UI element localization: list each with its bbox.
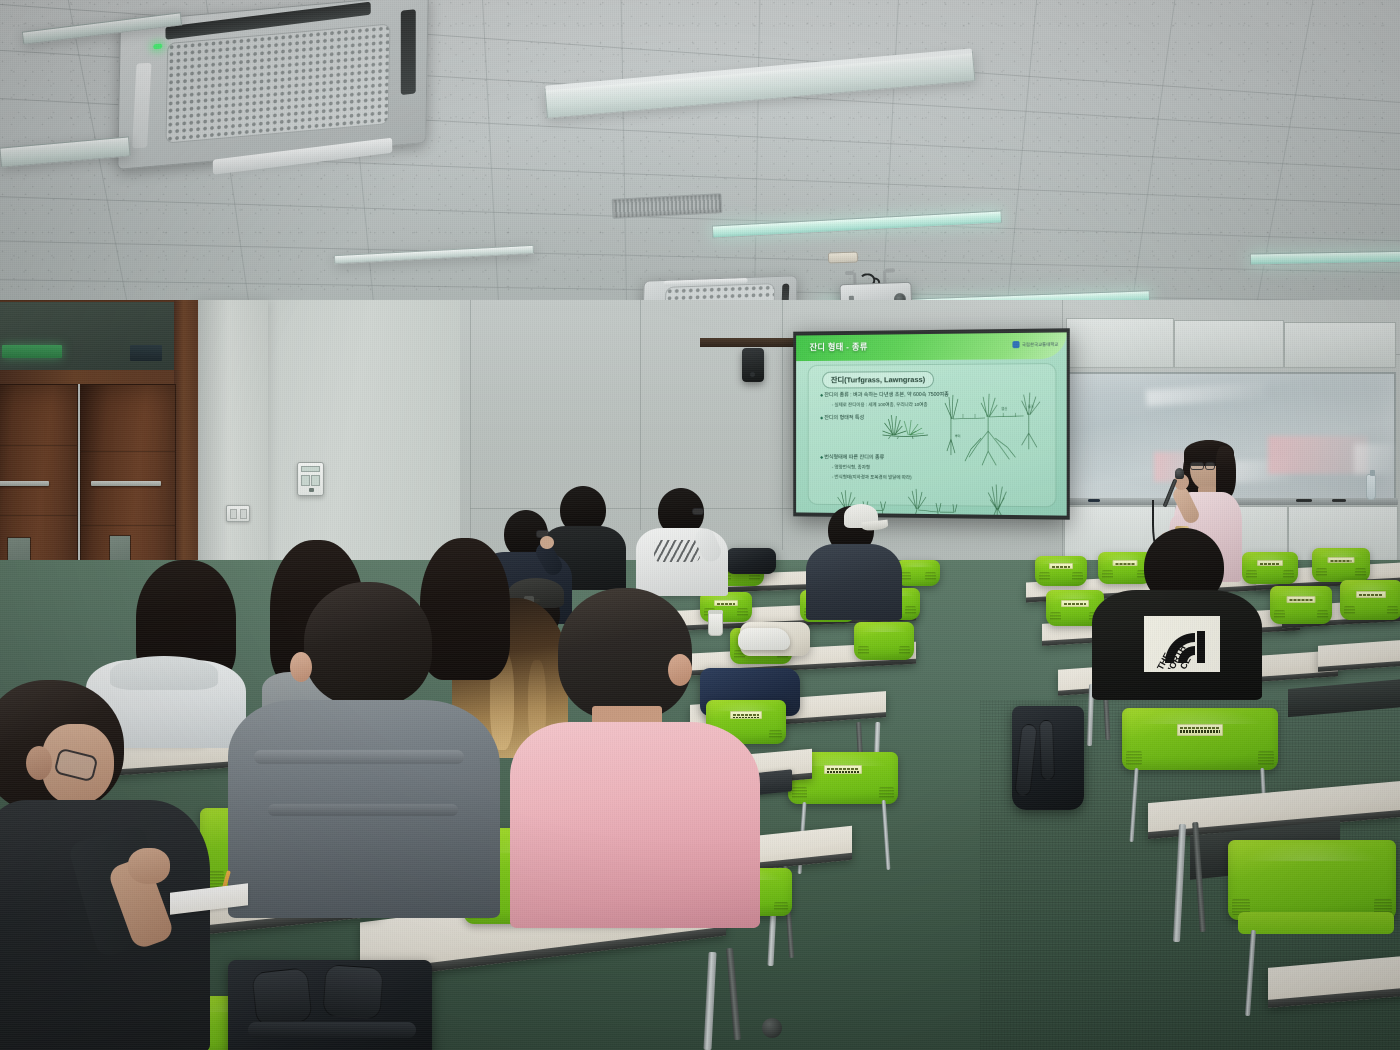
glasses [1190, 462, 1204, 470]
chair[interactable] [1340, 580, 1400, 620]
logo-text: 국립한국교통대학교 [1022, 341, 1058, 347]
projected-slide: 잔디 형태 - 종류 국립한국교통대학교 잔디(Turfgrass, Lawng… [796, 332, 1067, 515]
diagram-rhizome [902, 487, 960, 516]
chair[interactable] [1122, 708, 1278, 770]
logo-mark-icon [1013, 341, 1020, 348]
hair-side [1216, 446, 1236, 498]
slide-logo: 국립한국교통대학교 [1013, 341, 1059, 349]
wall-cabinet [1284, 322, 1396, 368]
exit-sign-left [2, 345, 62, 358]
svg-text:뿌리: 뿌리 [955, 433, 961, 438]
chair[interactable] [1312, 548, 1370, 582]
slide-body: 잔디(Turfgrass, Lawngrass) 잔디의 종류 : 벼과 속하는… [808, 363, 1057, 507]
jacket-fold [254, 750, 464, 764]
slide-bullet-3: 번식형태에 따른 잔디의 종류 [820, 454, 884, 461]
slide-sub-1-1: - 실제로 잔디이용 : 세계 100여종, 우리나라 10여종 [832, 402, 928, 408]
student-white-graphic-tee [636, 486, 734, 592]
shoe [738, 628, 790, 650]
classroom-photo: 잔디 형태 - 종류 국립한국교통대학교 잔디(Turfgrass, Lawng… [0, 0, 1400, 1050]
emergency-light [828, 251, 858, 263]
north-face-mark-icon: THE NORTH FACE [1147, 619, 1217, 669]
light-switch-panel[interactable] [226, 505, 250, 522]
microphone[interactable] [1175, 468, 1184, 479]
slide-sub-3-1: - 영양번식형, 종자형 [832, 464, 870, 470]
svg-text:줄기: 줄기 [1028, 404, 1034, 409]
caster-wheel [762, 1018, 782, 1038]
chair-seat[interactable] [1238, 912, 1394, 934]
exit-sign-right [130, 345, 162, 361]
hand-holding-pen [128, 848, 170, 884]
slide-title: 잔디 형태 - 종류 [810, 341, 868, 353]
jacket-fold [268, 804, 458, 816]
student-north-face: THE NORTH FACE [1092, 528, 1268, 698]
chair[interactable] [854, 622, 914, 660]
tee-graphic [654, 540, 700, 562]
suspended-ceiling [0, 0, 1400, 345]
ear [290, 652, 312, 682]
fluorescent-light-6 [1250, 251, 1400, 266]
svg-text:엽신: 엽신 [1001, 406, 1007, 411]
ac-wall-controller[interactable] [297, 462, 324, 496]
ear [668, 654, 692, 686]
north-face-logo: THE NORTH FACE [1144, 616, 1220, 672]
marker-blue[interactable] [1088, 499, 1100, 502]
door-frame-header [0, 370, 198, 384]
chair[interactable] [1270, 586, 1332, 624]
hand [540, 536, 554, 549]
cap [844, 504, 878, 528]
backpack-front[interactable] [228, 960, 432, 1050]
root-system-illustration: 엽신 줄기 뿌리 [941, 384, 1057, 473]
marker-black[interactable] [1296, 499, 1312, 502]
torso [510, 722, 760, 928]
backpack-right[interactable] [1012, 706, 1084, 810]
chair[interactable] [1228, 840, 1396, 920]
water-bottle[interactable] [1366, 474, 1376, 500]
grass-clump-illustration [879, 409, 930, 439]
projection-screen: 잔디 형태 - 종류 국립한국교통대학교 잔디(Turfgrass, Lawng… [793, 328, 1070, 519]
student-white-cap [800, 498, 908, 614]
student-pink-shirt [500, 588, 770, 928]
glasses-right [1205, 462, 1215, 470]
diagram-tiller [976, 483, 1021, 515]
chair[interactable] [1035, 556, 1087, 586]
ear [26, 746, 52, 780]
wall-speaker [742, 348, 764, 382]
slide-bullet-1: 잔디의 종류 : 벼과 속하는 다년생 초본, 약 600속 7500여종 [820, 391, 949, 398]
torso [806, 544, 902, 620]
glasses [692, 508, 704, 515]
head [304, 582, 432, 706]
head [558, 588, 692, 720]
slide-bullet-2: 잔디의 형태적 특성 [820, 414, 864, 421]
marker-black-2[interactable] [1332, 499, 1346, 502]
slide-heading: 잔디(Turfgrass, Lawngrass) [822, 371, 934, 389]
wall-cabinet [1066, 318, 1174, 368]
wall-cabinet [1174, 320, 1284, 368]
door-transom [0, 300, 188, 372]
slide-sub-3-2: - 번식형태(지하경과 포복경의 발달에 따라) [832, 474, 912, 481]
